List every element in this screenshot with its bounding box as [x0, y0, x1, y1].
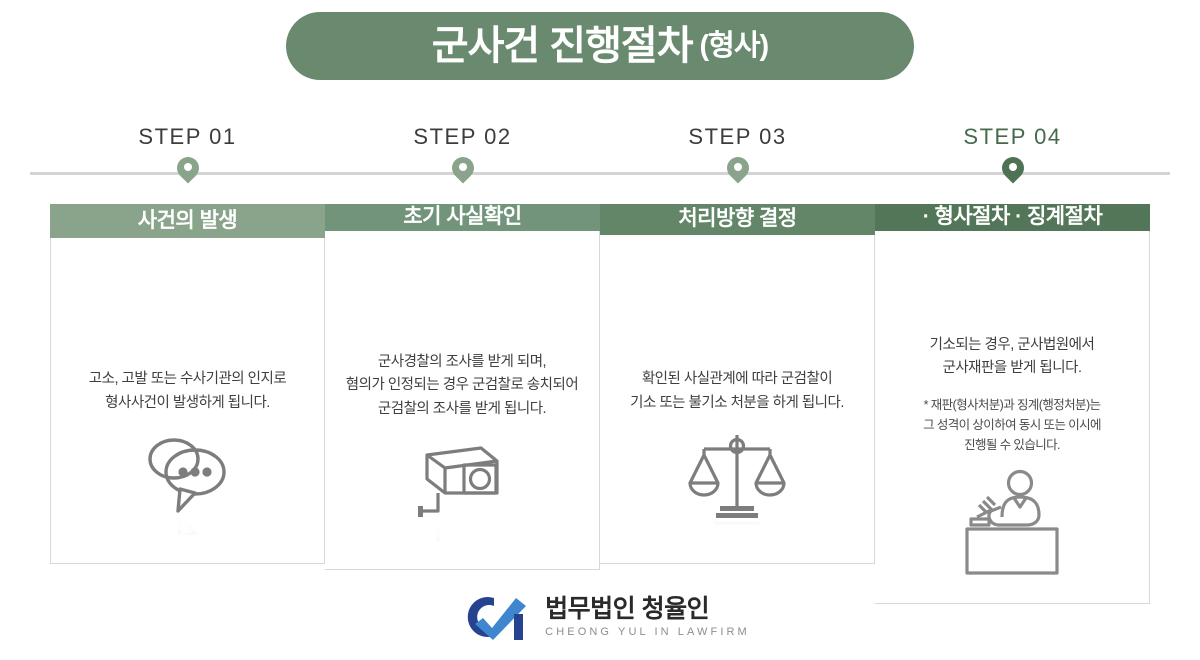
step-markers: STEP 01 STEP 02 STEP 03 STEP 04 — [50, 124, 1150, 184]
map-pin-icon — [1002, 157, 1024, 184]
card-body-2: 군사경찰의 조사를 받게 되며, 혐의가 인정되는 경우 군검찰로 송치되어 군… — [325, 231, 600, 570]
step-marker-4: STEP 04 — [875, 124, 1150, 184]
page-title-banner: 군사건 진행절차 (형사) — [0, 12, 1200, 80]
process-card-3: 처리방향 결정 확인된 사실관계에 따라 군검찰이 기소 또는 불기소 처분을 … — [600, 204, 875, 564]
card-footnote-4: * 재판(형사처분)과 징계(행정처분)는 그 성격이 상이하여 동시 또는 이… — [923, 395, 1101, 455]
process-card-4: · 형사절차 · 징계절차 기소되는 경우, 군사법원에서 군사재판을 받게 됩… — [875, 204, 1150, 564]
card-text-1: 고소, 고발 또는 수사기관의 인지로 형사사건이 발생하게 됩니다. — [89, 368, 286, 415]
step-label-2: STEP 02 — [413, 124, 511, 150]
map-pin-icon — [177, 157, 199, 184]
card-body-1: 고소, 고발 또는 수사기관의 인지로 형사사건이 발생하게 됩니다. — [50, 238, 325, 564]
logo-name-en: CHEONG YUL IN LAWFIRM — [545, 626, 750, 638]
judge-bench-icon — [947, 455, 1077, 585]
logo-name-ko: 법무법인 청율인 — [545, 596, 750, 622]
process-cards: 사건의 발생 고소, 고발 또는 수사기관의 인지로 형사사건이 발생하게 됩니… — [50, 204, 1150, 564]
process-card-1: 사건의 발생 고소, 고발 또는 수사기관의 인지로 형사사건이 발생하게 됩니… — [50, 204, 325, 564]
map-pin-icon — [727, 157, 749, 184]
card-body-3: 확인된 사실관계에 따라 군검찰이 기소 또는 불기소 처분을 하게 됩니다. — [600, 235, 875, 564]
step-marker-2: STEP 02 — [325, 124, 600, 184]
card-text-4: 기소되는 경우, 군사법원에서 군사재판을 받게 됩니다. — [930, 334, 1095, 381]
step-marker-1: STEP 01 — [50, 124, 325, 184]
card-body-4: 기소되는 경우, 군사법원에서 군사재판을 받게 됩니다. * 재판(형사처분)… — [875, 231, 1150, 604]
speech-bubbles-icon — [123, 415, 253, 545]
step-label-1: STEP 01 — [138, 124, 236, 150]
logo-text: 법무법인 청율인 CHEONG YUL IN LAWFIRM — [545, 596, 750, 637]
page-title-suffix: (형사) — [700, 32, 769, 61]
card-heading-2: 초기 사실확인 — [325, 204, 600, 231]
step-marker-3: STEP 03 — [600, 124, 875, 184]
card-heading-1: 사건의 발생 — [50, 204, 325, 238]
step-label-4: STEP 04 — [963, 124, 1061, 150]
page-title: 군사건 진행절차 — [432, 26, 693, 66]
scales-of-justice-icon — [672, 415, 802, 545]
card-text-2: 군사경찰의 조사를 받게 되며, 혐의가 인정되는 경우 군검찰로 송치되어 군… — [346, 351, 578, 421]
company-logo: 법무법인 청율인 CHEONG YUL IN LAWFIRM — [0, 592, 1200, 642]
process-card-2: 초기 사실확인 군사경찰의 조사를 받게 되며, 혐의가 인정되는 경우 군검찰… — [325, 204, 600, 564]
map-pin-icon — [452, 157, 474, 184]
title-pill: 군사건 진행절차 (형사) — [286, 12, 914, 80]
card-heading-3: 처리방향 결정 — [600, 204, 875, 235]
card-heading-4: · 형사절차 · 징계절차 — [875, 204, 1150, 231]
step-label-3: STEP 03 — [688, 124, 786, 150]
card-text-3: 확인된 사실관계에 따라 군검찰이 기소 또는 불기소 처분을 하게 됩니다. — [630, 368, 844, 415]
logo-mark-icon — [450, 592, 536, 642]
cctv-camera-icon — [397, 421, 527, 551]
